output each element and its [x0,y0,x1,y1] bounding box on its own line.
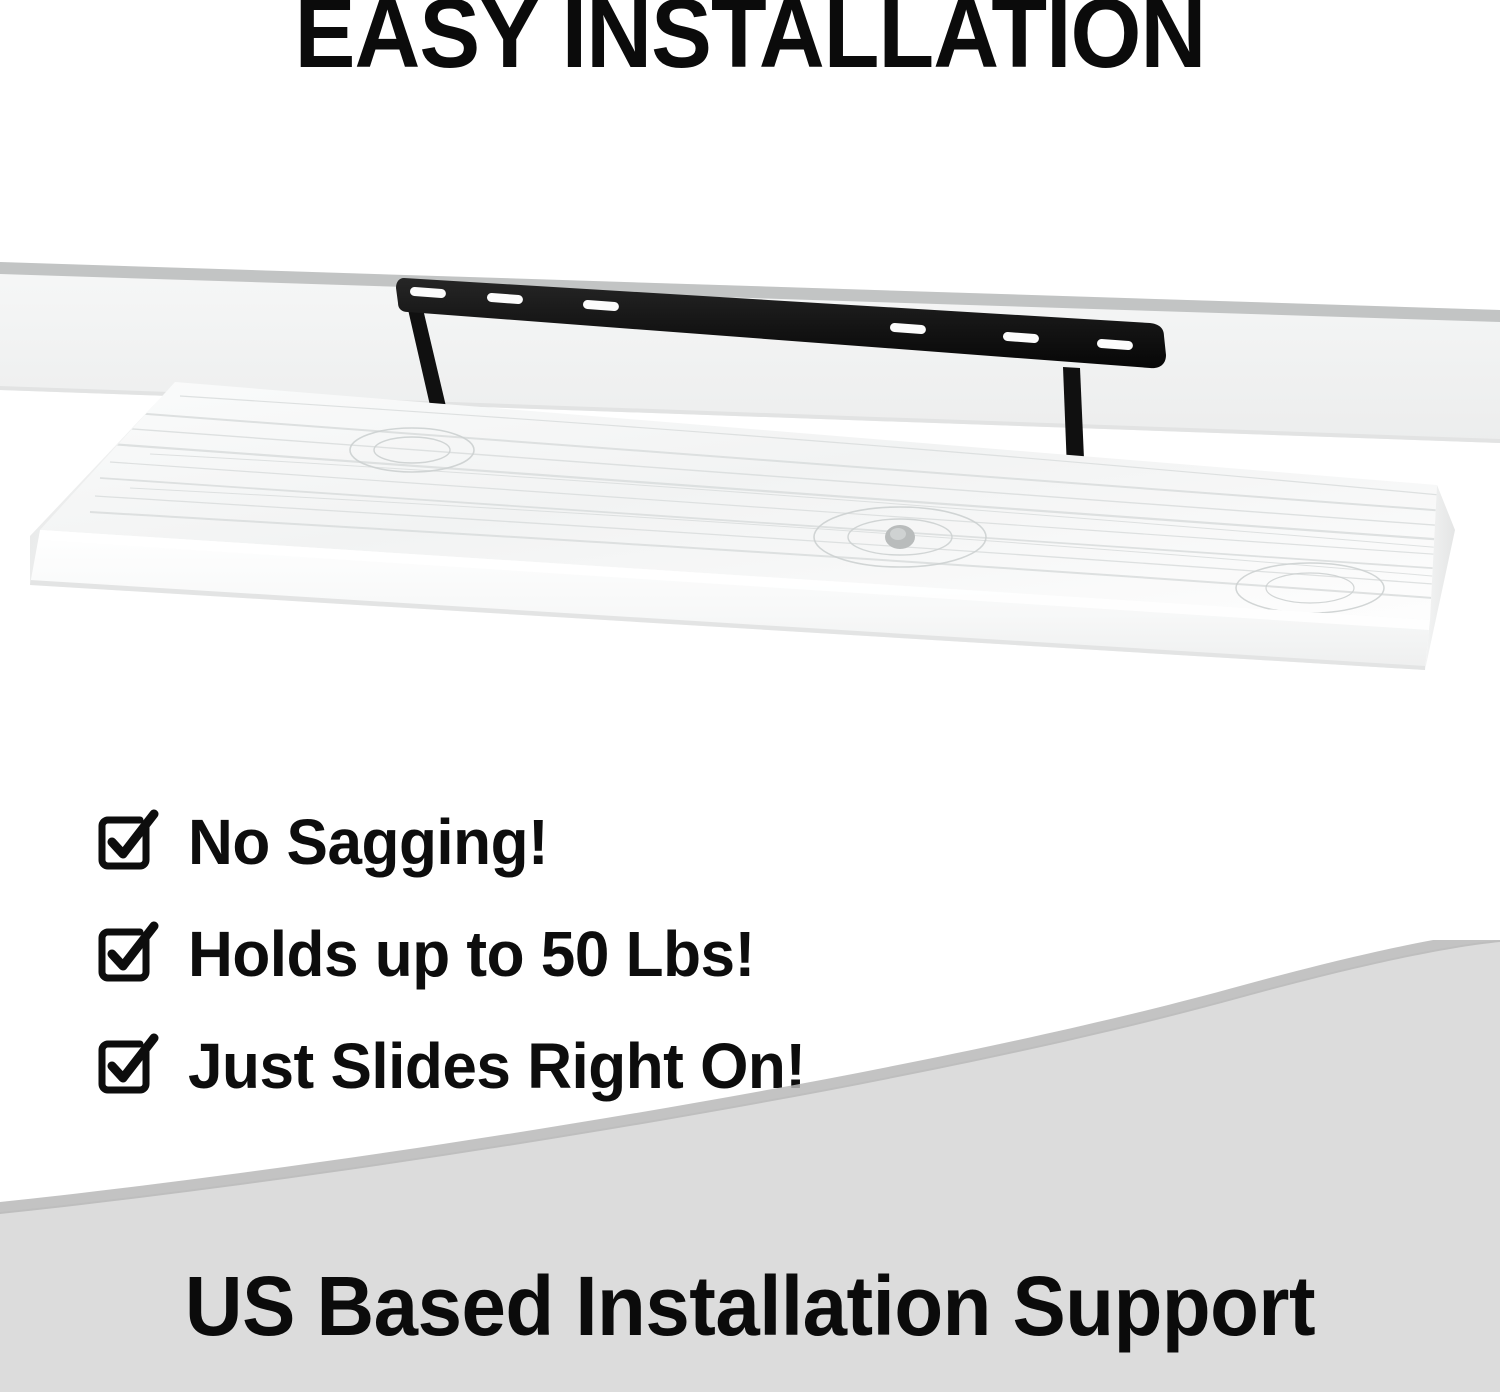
promo-image-root: EASY INSTALLATION [0,0,1500,1392]
page-title: EASY INSTALLATION [53,0,1448,82]
shelf-knot-highlight [890,528,906,540]
feature-item: No Sagging! [96,786,996,898]
shelf-illustration [0,200,1500,820]
checkbox-checked-icon [96,812,158,872]
product-photo [0,200,1500,820]
feature-label: No Sagging! [188,810,548,874]
footer-support-text: US Based Installation Support [38,1264,1463,1348]
